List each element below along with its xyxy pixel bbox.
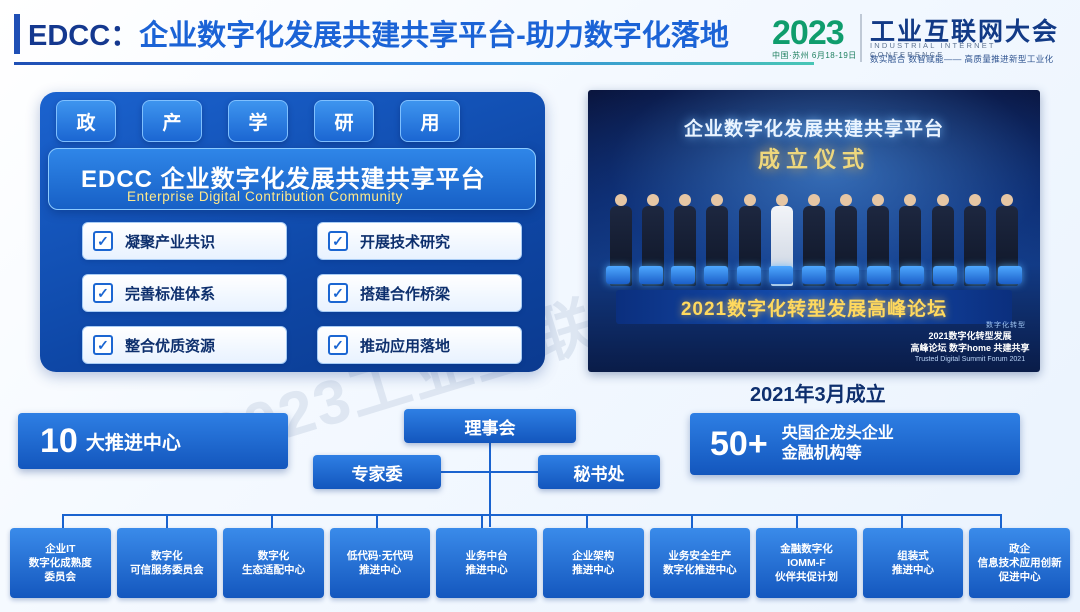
center-card-line: 企业架构 (572, 549, 614, 563)
logo-year: 2023 (772, 14, 844, 53)
stat-centers-number: 10 (40, 422, 78, 461)
stat-members-labels: 央国企龙头企业 金融机构等 (782, 424, 894, 464)
podium (704, 266, 728, 284)
org-connector-leg (586, 514, 588, 528)
center-card: 政企 信息技术应用创新 促进中心 (969, 528, 1070, 598)
center-card-line: 组装式 (897, 549, 929, 563)
photo-banner-text: 2021数字化转型发展高峰论坛 (616, 290, 1012, 324)
center-card-line: 金融数字化 (780, 542, 833, 556)
page-title-part2: 企业数字化发展共建共享平台-助力数字化落地 (139, 20, 729, 52)
check-icon: ✓ (93, 231, 113, 251)
podium-row (606, 266, 1022, 286)
feature-label: 推动应用落地 (360, 335, 450, 356)
title-accent-bar (14, 14, 20, 54)
center-card-line: 促进中心 (999, 570, 1041, 584)
podium (933, 266, 957, 284)
center-card-line: 数字化 (151, 549, 183, 563)
center-card-line: 数字化推进中心 (663, 563, 737, 577)
check-icon: ✓ (328, 335, 348, 355)
feature-label: 凝聚产业共识 (125, 231, 215, 252)
podium (965, 266, 989, 284)
logo-tagline: 数实融合 数智赋能—— 高质量推进新型工业化 (870, 53, 1054, 65)
stat-centers: 10 大推进中心 (18, 413, 288, 469)
founded-date: 2021年3月成立 (750, 378, 886, 407)
check-icon: ✓ (328, 231, 348, 251)
podium (802, 266, 826, 284)
center-card: 组装式 推进中心 (863, 528, 964, 598)
role-chip: 学 (228, 100, 288, 142)
podium (900, 266, 924, 284)
photo-caption-line2: 高峰论坛 数字home 共建共享 (910, 342, 1030, 354)
feature-item: ✓ 搭建合作桥梁 (317, 274, 522, 312)
platform-title-en: Enterprise Digital Contribution Communit… (127, 189, 403, 204)
org-connector-down (489, 489, 491, 527)
center-card-line: 数字化成熟度 (29, 556, 92, 570)
center-card-line: 伙伴共促计划 (775, 570, 838, 584)
podium (867, 266, 891, 284)
check-icon: ✓ (93, 283, 113, 303)
org-connector-vertical (489, 443, 491, 491)
center-card-line: 推进中心 (892, 563, 934, 577)
logo-year-sub: 中国·苏州 6月18-19日 (772, 50, 857, 61)
center-cards-row: 企业IT 数字化成熟度 委员会 数字化 可信服务委员会 数字化 生态适配中心 低… (10, 528, 1070, 598)
podium (606, 266, 630, 284)
feature-label: 完善标准体系 (125, 283, 215, 304)
center-card-line: 业务安全生产 (668, 549, 731, 563)
center-card: 数字化 可信服务委员会 (117, 528, 218, 598)
center-card-line: 推进中心 (572, 563, 614, 577)
podium (835, 266, 859, 284)
org-box-secretariat: 秘书处 (538, 455, 660, 489)
feature-item: ✓ 推动应用落地 (317, 326, 522, 364)
center-card: 企业IT 数字化成熟度 委员会 (10, 528, 111, 598)
center-card-line: 生态适配中心 (242, 563, 305, 577)
slide-header: EDCC：企业数字化发展共建共享平台-助力数字化落地 2023 中国·苏州 6月… (0, 0, 1080, 80)
feature-item: ✓ 完善标准体系 (82, 274, 287, 312)
role-chip-row: 政 产 学 研 用 (56, 100, 476, 142)
feature-label: 搭建合作桥梁 (360, 283, 450, 304)
center-card-line: 推进中心 (466, 563, 508, 577)
org-connector-leg (691, 514, 693, 528)
org-connector-leg (166, 514, 168, 528)
org-connector-leg (1000, 514, 1002, 528)
org-connector-leg (901, 514, 903, 528)
org-box-council: 理事会 (404, 409, 576, 443)
center-card-line: 企业IT (45, 542, 75, 556)
center-card: 企业架构 推进中心 (543, 528, 644, 598)
center-card: 业务中台 推进中心 (436, 528, 537, 598)
logo-divider (860, 14, 862, 62)
podium (737, 266, 761, 284)
feature-item: ✓ 开展技术研究 (317, 222, 522, 260)
check-icon: ✓ (93, 335, 113, 355)
center-card: 数字化 生态适配中心 (223, 528, 324, 598)
podium (639, 266, 663, 284)
org-connector-leg (796, 514, 798, 528)
org-connector-bus (62, 514, 1002, 516)
slide-canvas: EDCC：企业数字化发展共建共享平台-助力数字化落地 2023 中国·苏州 6月… (0, 0, 1080, 612)
photo-caption-line3: Trusted Digital Summit Forum 2021 (910, 355, 1030, 364)
center-card-line: 数字化 (258, 549, 290, 563)
org-connector-leg (62, 514, 64, 528)
photo-stage-title: 企业数字化发展共建共享平台 (588, 114, 1040, 141)
feature-item: ✓ 整合优质资源 (82, 326, 287, 364)
org-box-expert: 专家委 (313, 455, 441, 489)
conference-logo: 2023 中国·苏州 6月18-19日 工业互联网大会 INDUSTRIAL I… (772, 8, 1072, 70)
stat-members-number: 50+ (710, 425, 768, 464)
photo-side-tag: 数字化转型 (986, 320, 1026, 330)
feature-grid: ✓ 凝聚产业共识 ✓ 开展技术研究 ✓ 完善标准体系 ✓ 搭建合作桥梁 ✓ 整合… (82, 222, 522, 364)
feature-item: ✓ 凝聚产业共识 (82, 222, 287, 260)
center-card-line: 政企 (1009, 542, 1030, 556)
feature-label: 整合优质资源 (125, 335, 215, 356)
center-card-line: 可信服务委员会 (130, 563, 204, 577)
center-card: 低代码·无代码 推进中心 (330, 528, 431, 598)
page-title-part1: EDCC： (28, 20, 139, 52)
stat-members-line1: 央国企龙头企业 (782, 424, 894, 444)
stat-centers-label: 大推进中心 (86, 428, 181, 455)
check-icon: ✓ (328, 283, 348, 303)
center-card: 业务安全生产 数字化推进中心 (650, 528, 751, 598)
photo-stage-subtitle: 成立仪式 (588, 142, 1040, 174)
feature-label: 开展技术研究 (360, 231, 450, 252)
role-chip: 用 (400, 100, 460, 142)
center-card-line: 低代码·无代码 (347, 549, 414, 563)
stat-members-line2: 金融机构等 (782, 444, 894, 464)
center-card-line: 委员会 (45, 570, 77, 584)
podium (769, 266, 793, 284)
role-chip: 产 (142, 100, 202, 142)
platform-title-bar: EDCC 企业数字化发展共建共享平台 Enterprise Digital Co… (48, 148, 536, 210)
photo-caption-line1: 2021数字化转型发展 (910, 330, 1030, 342)
podium (671, 266, 695, 284)
org-connector-leg (376, 514, 378, 528)
center-card: 金融数字化 IOMM-F 伙伴共促计划 (756, 528, 857, 598)
center-card-line: 信息技术应用创新 (978, 556, 1062, 570)
center-card-line: 业务中台 (466, 549, 508, 563)
photo-caption: 2021数字化转型发展 高峰论坛 数字home 共建共享 Trusted Dig… (910, 330, 1030, 364)
stat-members: 50+ 央国企龙头企业 金融机构等 (690, 413, 1020, 475)
org-connector-leg (271, 514, 273, 528)
role-chip: 研 (314, 100, 374, 142)
ceremony-photo: 企业数字化发展共建共享平台 成立仪式 2021数字化转型发展高峰 (588, 90, 1040, 372)
center-card-line: IOMM-F (787, 556, 826, 570)
title-underline (14, 62, 814, 65)
podium (998, 266, 1022, 284)
role-chip: 政 (56, 100, 116, 142)
page-title: EDCC：企业数字化发展共建共享平台-助力数字化落地 (28, 12, 729, 54)
org-connector-leg (481, 514, 483, 528)
center-card-line: 推进中心 (359, 563, 401, 577)
